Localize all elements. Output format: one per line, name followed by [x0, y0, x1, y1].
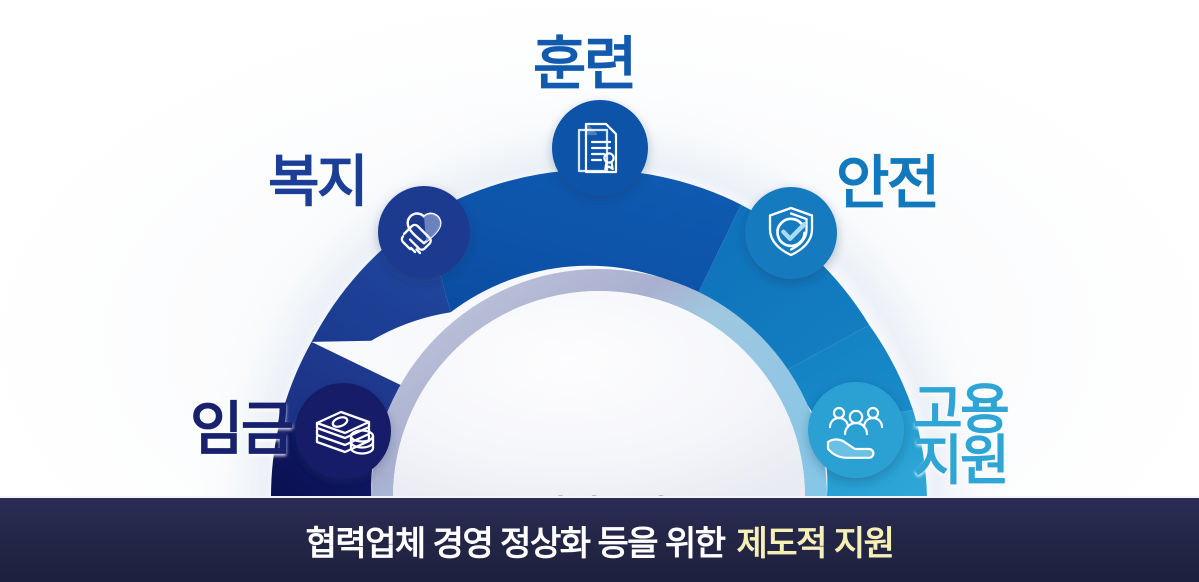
label-employment-line1: 고용 [913, 385, 1007, 436]
label-welfare: 복지 [268, 155, 366, 210]
icon-node-wage[interactable] [295, 383, 391, 479]
label-safety: 안전 [836, 156, 938, 213]
banner-text-primary: 협력업체 경영 정상화 등을 위한 [306, 525, 725, 563]
infographic-canvas: 인력유입 – 유지 – 양성 체계적 지원 임금 복지 훈련 안전 고용 지원 … [0, 0, 1199, 582]
banner-text: 협력업체 경영 정상화 등을 위한제도적 지원 [306, 516, 894, 565]
label-wage: 임금 [190, 402, 292, 459]
bottom-banner: 협력업체 경영 정상화 등을 위한제도적 지원 [0, 496, 1199, 582]
label-employment: 고용 지원 [913, 385, 1007, 487]
icon-node-employment[interactable] [808, 382, 904, 478]
label-employment-line2: 지원 [913, 436, 1007, 487]
icon-node-safety[interactable] [745, 187, 837, 279]
label-training: 훈련 [533, 37, 635, 94]
banner-text-accent: 제도적 지원 [737, 525, 894, 563]
